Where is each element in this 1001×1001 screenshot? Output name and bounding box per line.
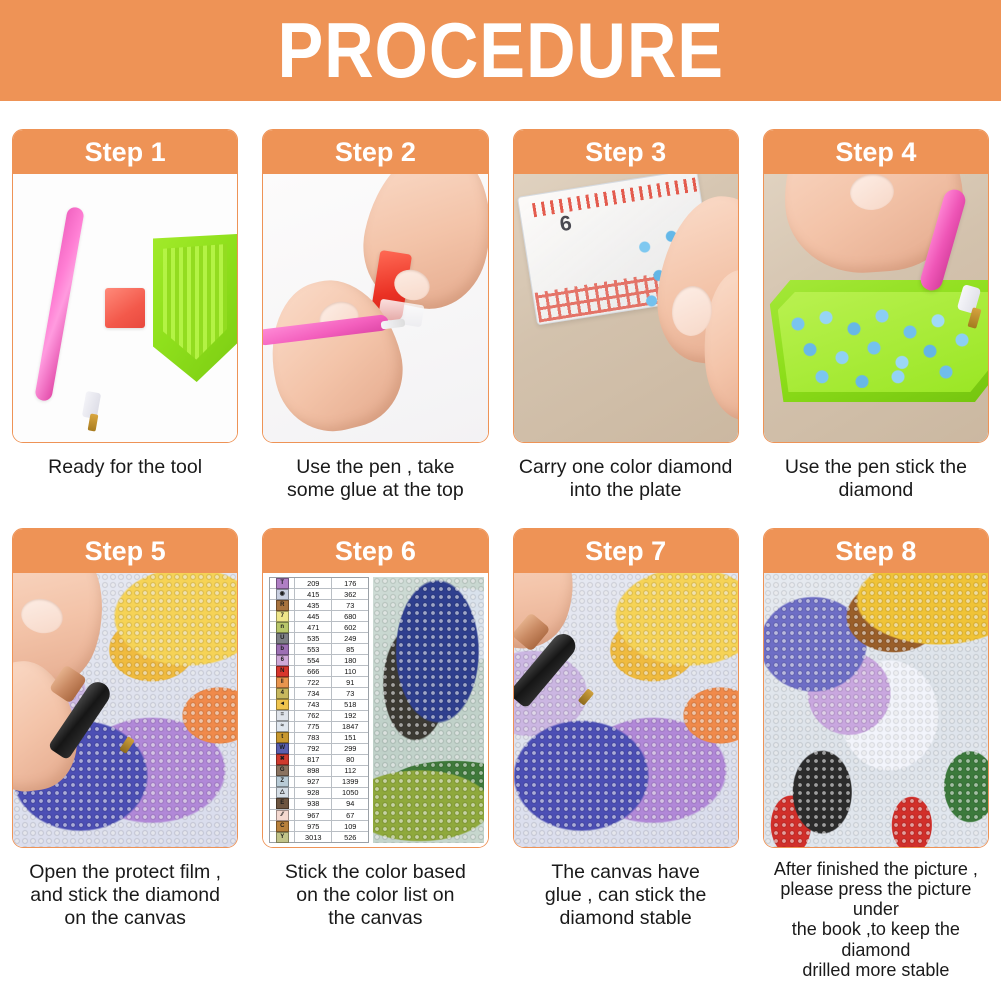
color-count-cell: 109 bbox=[332, 821, 368, 831]
color-count-cell: 94 bbox=[332, 799, 368, 809]
color-count-cell: 110 bbox=[332, 666, 368, 676]
step-card-7: Step 7 The canvas have glue , can stick … bbox=[501, 502, 751, 980]
blue-diamonds-icon bbox=[786, 308, 986, 388]
step-3-image: 6 bbox=[514, 174, 738, 442]
color-count-cell: 85 bbox=[332, 644, 368, 654]
color-count-cell: 602 bbox=[332, 622, 368, 632]
color-chart-row: b55385 bbox=[270, 644, 368, 655]
step-3-card: Step 3 6 bbox=[513, 129, 739, 443]
diamond-grid-overlay bbox=[373, 577, 483, 843]
color-chart-row: ◉415362 bbox=[270, 589, 368, 600]
color-chart-row: C975109 bbox=[270, 821, 368, 832]
color-code-cell: 927 bbox=[295, 777, 332, 787]
step-6-image: T209176◉415362R435737445680n471602U53524… bbox=[263, 573, 487, 847]
color-code-cell: 967 bbox=[295, 810, 332, 820]
color-swatch-symbol: t bbox=[270, 733, 295, 743]
color-count-cell: 249 bbox=[332, 633, 368, 643]
color-code-cell: 445 bbox=[295, 611, 332, 621]
color-swatch-symbol: n bbox=[270, 622, 295, 632]
color-list-photo: T209176◉415362R435737445680n471602U53524… bbox=[263, 573, 487, 847]
color-chart-table: T209176◉415362R435737445680n471602U53524… bbox=[269, 577, 369, 843]
color-count-cell: 91 bbox=[332, 677, 368, 687]
color-count-cell: 176 bbox=[332, 578, 368, 588]
color-chart-row: ‖72291 bbox=[270, 677, 368, 688]
color-code-cell: 775 bbox=[295, 722, 332, 732]
color-swatch-symbol: ‖ bbox=[270, 677, 295, 687]
step-8-caption: After finished the picture , please pres… bbox=[763, 859, 989, 980]
color-code-cell: 535 bbox=[295, 633, 332, 643]
color-code-cell: 666 bbox=[295, 666, 332, 676]
color-chart-row: ◄743518 bbox=[270, 700, 368, 711]
color-chart-row: G898112 bbox=[270, 766, 368, 777]
step-6-header: Step 6 bbox=[263, 529, 487, 573]
step-2-caption: Use the pen , take some glue at the top bbox=[287, 456, 464, 502]
wax-square-icon bbox=[105, 288, 145, 328]
step-6-caption: Stick the color based on the color list … bbox=[285, 861, 466, 930]
steps-row-bottom: Step 5 Open the protect film , and stick… bbox=[0, 502, 1001, 980]
color-chart-row: U535249 bbox=[270, 633, 368, 644]
color-chart-row: R43573 bbox=[270, 600, 368, 611]
step-3-caption: Carry one color diamond into the plate bbox=[519, 456, 733, 502]
color-count-cell: 518 bbox=[332, 700, 368, 710]
step-card-2: Step 2 Use the pen , take some glue at t… bbox=[250, 101, 500, 502]
color-code-cell: 209 bbox=[295, 578, 332, 588]
color-code-cell: 471 bbox=[295, 622, 332, 632]
color-code-cell: 553 bbox=[295, 644, 332, 654]
color-swatch-symbol: 7 bbox=[270, 611, 295, 621]
steps-row-top: Step 1 Ready for the tool Step 2 bbox=[0, 101, 1001, 502]
color-count-cell: 1399 bbox=[332, 777, 368, 787]
color-swatch-symbol: R bbox=[270, 600, 295, 610]
step-2-card: Step 2 bbox=[262, 129, 488, 443]
color-count-cell: 80 bbox=[332, 755, 368, 765]
color-swatch-symbol: N bbox=[270, 666, 295, 676]
color-chart-row: 6554180 bbox=[270, 655, 368, 666]
color-swatch-symbol: b bbox=[270, 644, 295, 654]
color-swatch-symbol: 6 bbox=[270, 655, 295, 665]
step-1-card: Step 1 bbox=[12, 129, 238, 443]
color-swatch-symbol: ✖ bbox=[270, 755, 295, 765]
color-chart-row: ✖81780 bbox=[270, 755, 368, 766]
color-chart-row: 473473 bbox=[270, 688, 368, 699]
step-7-card: Step 7 bbox=[513, 528, 739, 848]
color-code-cell: 898 bbox=[295, 766, 332, 776]
color-count-cell: 680 bbox=[332, 611, 368, 621]
color-swatch-symbol: C bbox=[270, 821, 295, 831]
color-code-cell: 722 bbox=[295, 677, 332, 687]
color-chart-row: t783151 bbox=[270, 733, 368, 744]
color-code-cell: 554 bbox=[295, 655, 332, 665]
color-code-cell: 3013 bbox=[295, 832, 332, 842]
color-count-cell: 112 bbox=[332, 766, 368, 776]
color-count-cell: 1050 bbox=[332, 788, 368, 798]
color-code-cell: 928 bbox=[295, 788, 332, 798]
glue-dipping-photo bbox=[263, 174, 487, 442]
step-5-header: Step 5 bbox=[13, 529, 237, 573]
color-count-cell: 299 bbox=[332, 744, 368, 754]
bag-number-label: 6 bbox=[558, 211, 578, 237]
color-code-cell: 762 bbox=[295, 711, 332, 721]
step-4-caption: Use the pen stick the diamond bbox=[785, 456, 967, 502]
color-code-cell: 415 bbox=[295, 589, 332, 599]
color-chart-row: Z9271399 bbox=[270, 777, 368, 788]
step-card-8: Step 8 After finished the picture , plea… bbox=[751, 502, 1001, 980]
step-1-caption: Ready for the tool bbox=[48, 456, 202, 479]
step-card-4: Step 4 Use the pen stick the diamond bbox=[751, 101, 1001, 502]
color-count-cell: 362 bbox=[332, 589, 368, 599]
tools-photo bbox=[13, 174, 237, 442]
step-1-header: Step 1 bbox=[13, 130, 237, 174]
page-title: PROCEDURE bbox=[277, 11, 724, 89]
color-code-cell: 743 bbox=[295, 700, 332, 710]
color-swatch-symbol: △ bbox=[270, 788, 295, 798]
color-chart-row: W792299 bbox=[270, 744, 368, 755]
color-swatch-symbol: = bbox=[270, 711, 295, 721]
color-swatch-symbol: 4 bbox=[270, 688, 295, 698]
color-count-cell: 180 bbox=[332, 655, 368, 665]
step-8-card: Step 8 bbox=[763, 528, 989, 848]
canvas-drilling-photo bbox=[13, 573, 237, 847]
step-8-image bbox=[764, 573, 988, 847]
diamond-grid-overlay bbox=[764, 573, 988, 847]
step-5-image bbox=[13, 573, 237, 847]
color-swatch-symbol: Z bbox=[270, 777, 295, 787]
step-4-image bbox=[764, 174, 988, 442]
color-chart-row: 7445680 bbox=[270, 611, 368, 622]
color-swatch-symbol: W bbox=[270, 744, 295, 754]
step-card-3: Step 3 6 Carry one color diamond into th… bbox=[501, 101, 751, 502]
step-2-header: Step 2 bbox=[263, 130, 487, 174]
color-count-cell: 151 bbox=[332, 733, 368, 743]
color-swatch-symbol: E bbox=[270, 799, 295, 809]
color-count-cell: 67 bbox=[332, 810, 368, 820]
color-chart-row: △9281050 bbox=[270, 788, 368, 799]
tray-pickup-photo bbox=[764, 174, 988, 442]
color-swatch-symbol: ◉ bbox=[270, 589, 295, 599]
color-code-cell: 783 bbox=[295, 733, 332, 743]
step-6-card: Step 6 T209176◉415362R435737445680n47160… bbox=[262, 528, 488, 848]
color-chart-row: ≈7751847 bbox=[270, 722, 368, 733]
color-chart-row: ⁄⁄96767 bbox=[270, 810, 368, 821]
sticky-canvas-photo bbox=[514, 573, 738, 847]
step-2-image bbox=[263, 174, 487, 442]
color-code-cell: 817 bbox=[295, 755, 332, 765]
step-7-header: Step 7 bbox=[514, 529, 738, 573]
step-5-card: Step 5 bbox=[12, 528, 238, 848]
step-5-caption: Open the protect film , and stick the di… bbox=[29, 861, 221, 930]
step-8-header: Step 8 bbox=[764, 529, 988, 573]
color-count-cell: 526 bbox=[332, 832, 368, 842]
color-code-cell: 938 bbox=[295, 799, 332, 809]
step-4-card: Step 4 bbox=[763, 129, 989, 443]
color-chart-row: N666110 bbox=[270, 666, 368, 677]
color-code-cell: 975 bbox=[295, 821, 332, 831]
color-chart-row: Y3013526 bbox=[270, 832, 368, 842]
pink-pen-icon bbox=[34, 206, 85, 402]
bag-pour-photo: 6 bbox=[514, 174, 738, 442]
color-chart-row: E93894 bbox=[270, 799, 368, 810]
color-swatch-symbol: U bbox=[270, 633, 295, 643]
color-count-cell: 73 bbox=[332, 600, 368, 610]
step-card-1: Step 1 Ready for the tool bbox=[0, 101, 250, 502]
color-swatch-symbol: ◄ bbox=[270, 700, 295, 710]
color-count-cell: 1847 bbox=[332, 722, 368, 732]
step-card-5: Step 5 Open the protect film , and stick… bbox=[0, 502, 250, 980]
color-swatch-symbol: Y bbox=[270, 832, 295, 842]
color-chart-row: =762192 bbox=[270, 711, 368, 722]
color-swatch-symbol: T bbox=[270, 578, 295, 588]
step-4-header: Step 4 bbox=[764, 130, 988, 174]
finished-painting-photo bbox=[764, 573, 988, 847]
color-swatch-symbol: ⁄⁄ bbox=[270, 810, 295, 820]
step-1-image bbox=[13, 174, 237, 442]
step-7-caption: The canvas have glue , can stick the dia… bbox=[545, 861, 707, 930]
step-card-6: Step 6 T209176◉415362R435737445680n47160… bbox=[250, 502, 500, 980]
partial-canvas-icon bbox=[373, 577, 483, 843]
color-code-cell: 734 bbox=[295, 688, 332, 698]
step-3-header: Step 3 bbox=[514, 130, 738, 174]
steps-grid: Step 1 Ready for the tool Step 2 bbox=[0, 101, 1001, 980]
pen-tip-icon bbox=[88, 413, 99, 431]
color-swatch-symbol: ≈ bbox=[270, 722, 295, 732]
step-7-image bbox=[514, 573, 738, 847]
color-swatch-symbol: G bbox=[270, 766, 295, 776]
color-chart-row: n471602 bbox=[270, 622, 368, 633]
color-count-cell: 192 bbox=[332, 711, 368, 721]
pen-tip-icon bbox=[381, 319, 406, 330]
color-code-cell: 792 bbox=[295, 744, 332, 754]
color-code-cell: 435 bbox=[295, 600, 332, 610]
color-chart-row: T209176 bbox=[270, 578, 368, 589]
page-header-banner: PROCEDURE bbox=[0, 0, 1001, 101]
color-count-cell: 73 bbox=[332, 688, 368, 698]
